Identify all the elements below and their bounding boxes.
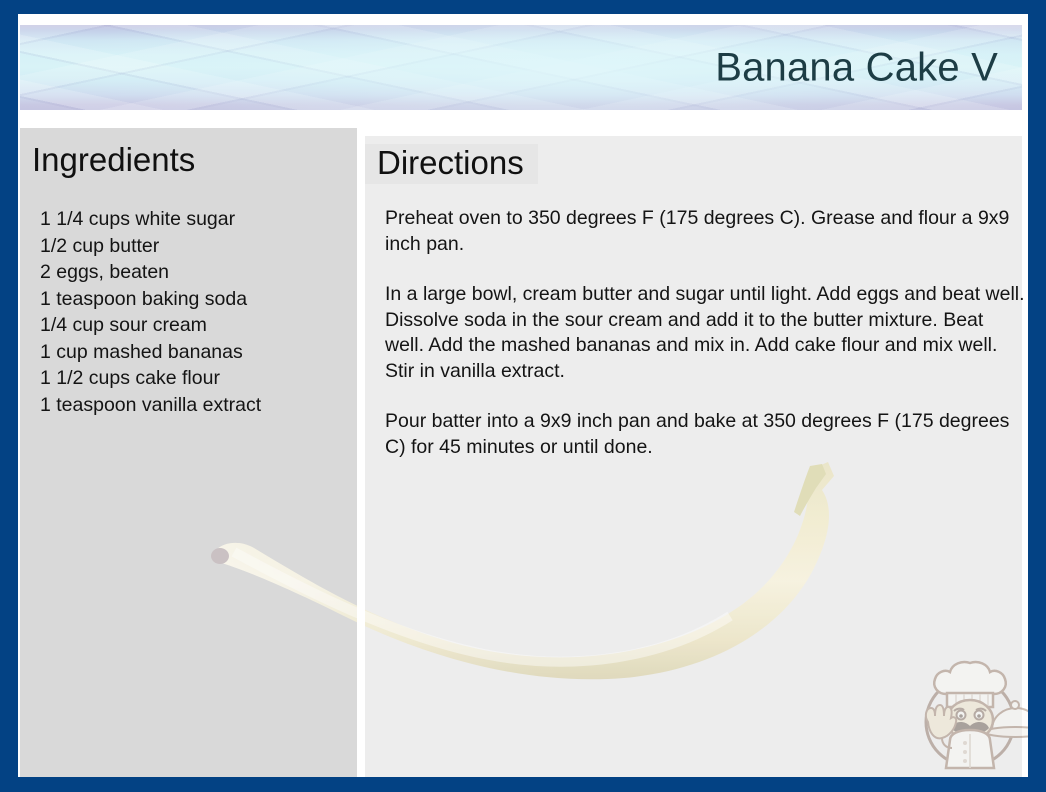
- directions-paragraph: Preheat oven to 350 degrees F (175 degre…: [385, 206, 1025, 257]
- directions-paragraph: Pour batter into a 9x9 inch pan and bake…: [385, 409, 1025, 460]
- column-gutter: [357, 128, 365, 777]
- recipe-title: Banana Cake V: [715, 45, 998, 90]
- recipe-card: Banana Cake V: [0, 0, 1046, 792]
- directions-body: Preheat oven to 350 degrees F (175 degre…: [385, 206, 1025, 460]
- list-item: 2 eggs, beaten: [40, 259, 340, 286]
- list-item: 1/2 cup butter: [40, 233, 340, 260]
- directions-paragraph: In a large bowl, cream butter and sugar …: [385, 282, 1025, 384]
- list-item: 1 cup mashed bananas: [40, 339, 340, 366]
- ingredients-heading: Ingredients: [20, 141, 209, 181]
- directions-heading: Directions: [365, 144, 538, 184]
- list-item: 1 1/4 cups white sugar: [40, 206, 340, 233]
- header-banner: Banana Cake V: [20, 25, 1022, 110]
- list-item: 1 teaspoon vanilla extract: [40, 392, 340, 419]
- ingredients-list: 1 1/4 cups white sugar 1/2 cup butter 2 …: [40, 206, 340, 418]
- list-item: 1 1/2 cups cake flour: [40, 365, 340, 392]
- list-item: 1 teaspoon baking soda: [40, 286, 340, 313]
- list-item: 1/4 cup sour cream: [40, 312, 340, 339]
- recipe-page: Banana Cake V: [18, 14, 1028, 777]
